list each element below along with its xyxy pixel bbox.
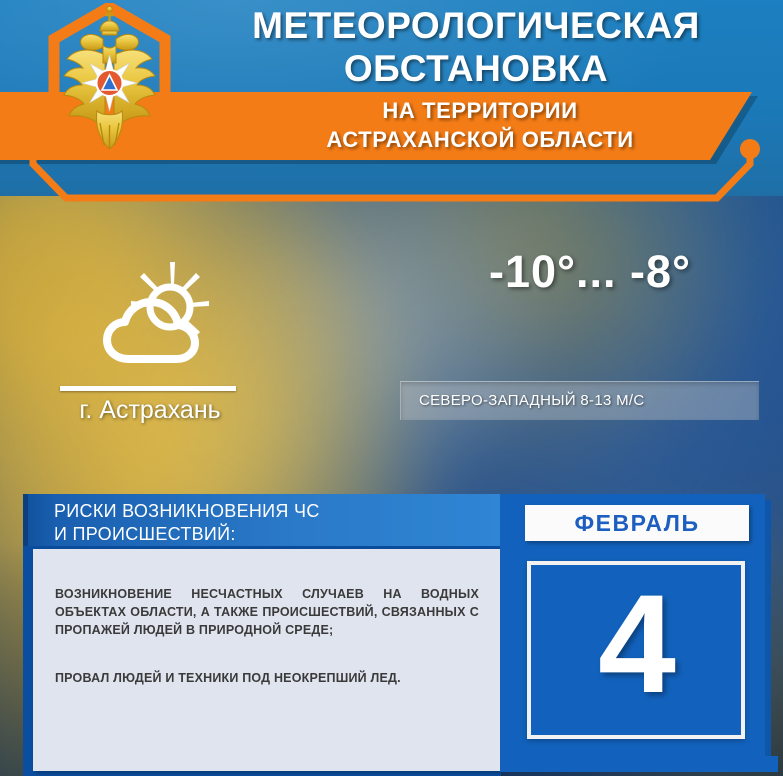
temperature-value: -10°... -8° xyxy=(420,246,760,298)
month-label: ФЕВРАЛЬ xyxy=(525,505,749,541)
title-line-2: ОБСТАНОВКА xyxy=(196,47,756,90)
risks-panel: РИСКИ ВОЗНИКНОВЕНИЯ ЧС И ПРОИСШЕСТВИЙ: В… xyxy=(23,494,501,776)
risks-heading-line-2: И ПРОИСШЕСТВИЙ: xyxy=(54,523,320,546)
sun-behind-cloud-icon xyxy=(95,258,225,380)
day-number: 4 xyxy=(531,555,741,733)
risks-content-sheet: ВОЗНИКНОВЕНИЕ НЕСЧАСТНЫХ СЛУЧАЕВ НА ВОДН… xyxy=(33,549,501,771)
title-line-1: МЕТЕОРОЛОГИЧЕСКАЯ xyxy=(196,4,756,47)
emercom-eagle-emblem xyxy=(47,3,172,169)
risk-item: ВОЗНИКНОВЕНИЕ НЕСЧАСТНЫХ СЛУЧАЕВ НА ВОДН… xyxy=(55,585,479,639)
wind-value: СЕВЕРО-ЗАПАДНЫЙ 8-13 М/С xyxy=(419,392,644,409)
risks-list: ВОЗНИКНОВЕНИЕ НЕСЧАСТНЫХ СЛУЧАЕВ НА ВОДН… xyxy=(55,585,479,687)
subtitle-line-1: НА ТЕРРИТОРИИ xyxy=(220,96,740,125)
city-underline xyxy=(60,386,236,391)
meteorological-situation-poster: МЕТЕОРОЛОГИЧЕСКАЯ ОБСТАНОВКА НА ТЕРРИТОР… xyxy=(0,0,783,776)
day-box: 4 xyxy=(527,561,745,739)
page-subtitle: НА ТЕРРИТОРИИ АСТРАХАНСКОЙ ОБЛАСТИ xyxy=(220,96,740,154)
risks-heading: РИСКИ ВОЗНИКНОВЕНИЯ ЧС И ПРОИСШЕСТВИЙ: xyxy=(54,500,320,546)
risks-heading-line-1: РИСКИ ВОЗНИКНОВЕНИЯ ЧС xyxy=(54,500,320,523)
subtitle-line-2: АСТРАХАНСКОЙ ОБЛАСТИ xyxy=(220,125,740,154)
risk-item: ПРОВАЛ ЛЮДЕЙ И ТЕХНИКИ ПОД НЕОКРЕПШИЙ ЛЕ… xyxy=(55,669,479,687)
risks-panel-header: РИСКИ ВОЗНИКНОВЕНИЯ ЧС И ПРОИСШЕСТВИЙ: xyxy=(23,494,501,546)
page-title: МЕТЕОРОЛОГИЧЕСКАЯ ОБСТАНОВКА xyxy=(196,4,756,90)
date-frame-bottom-strip xyxy=(500,756,778,772)
date-panel: ФЕВРАЛЬ 4 xyxy=(500,494,783,776)
city-name: г. Астрахань xyxy=(30,394,270,426)
wind-band: СЕВЕРО-ЗАПАДНЫЙ 8-13 М/С xyxy=(400,381,759,420)
month-banner: ФЕВРАЛЬ xyxy=(525,505,749,541)
